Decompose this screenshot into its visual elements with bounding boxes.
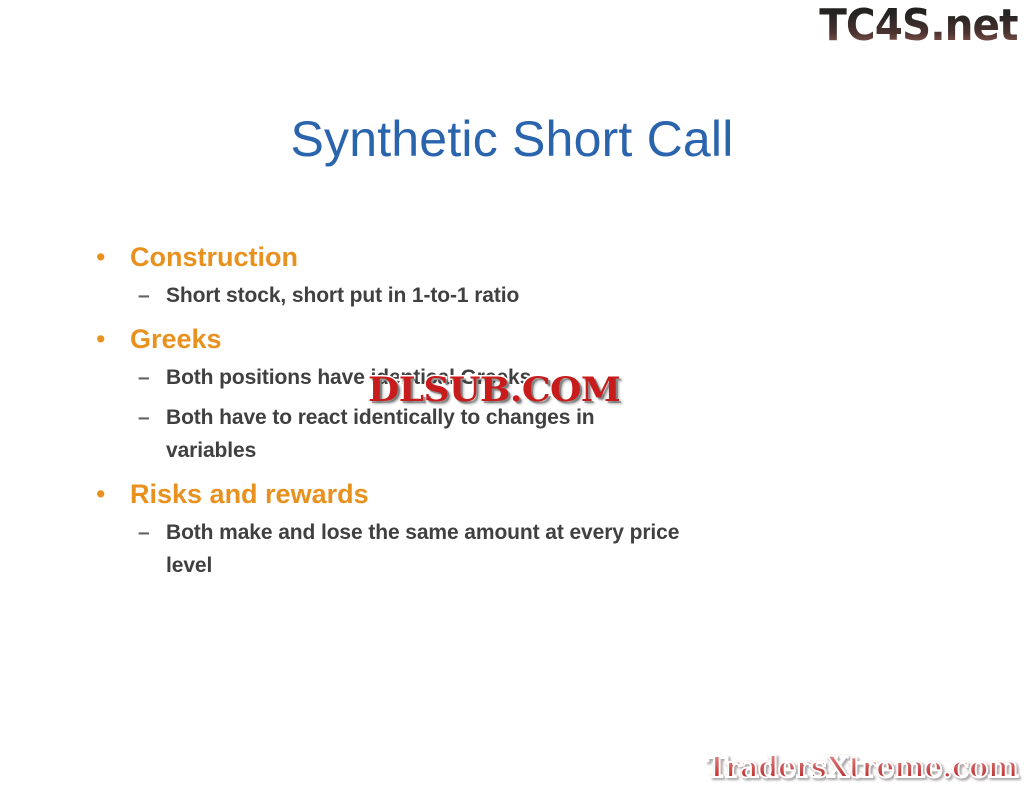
sub-bullet-text: Short stock, short put in 1-to-1 ratio (166, 279, 688, 312)
dash-bullet-icon: – (138, 516, 150, 549)
section-heading: Greeks (130, 319, 688, 359)
dlsub-watermark: DLSUB.COM (368, 370, 620, 410)
bullet-section-construction: • Construction (88, 237, 688, 277)
section-heading: Risks and rewards (130, 474, 688, 514)
tradersxtreme-footer-logo: TradersXtreme.com (706, 749, 1018, 785)
sub-bullet-item: – Both make and lose the same amount at … (88, 516, 688, 582)
spacer (88, 312, 688, 319)
sub-bullet-item: – Short stock, short put in 1-to-1 ratio (88, 279, 688, 312)
bullet-dot-icon: • (96, 237, 105, 277)
page-title: Synthetic Short Call (0, 108, 1024, 170)
dash-bullet-icon: – (138, 361, 150, 394)
section-heading: Construction (130, 237, 688, 277)
bullet-dot-icon: • (96, 474, 105, 514)
presentation-slide: TC4S.net Synthetic Short Call • Construc… (0, 0, 1024, 791)
sub-bullet-text: Both make and lose the same amount at ev… (166, 516, 688, 582)
bullet-section-risks-and-rewards: • Risks and rewards (88, 474, 688, 514)
spacer (88, 467, 688, 474)
dash-bullet-icon: – (138, 279, 150, 312)
bullet-section-greeks: • Greeks (88, 319, 688, 359)
tc4s-brand-logo: TC4S.net (820, 0, 1018, 54)
sub-bullet-text: Both have to react identically to change… (166, 401, 688, 467)
bullet-dot-icon: • (96, 319, 105, 359)
dash-bullet-icon: – (138, 401, 150, 434)
sub-bullet-item: – Both have to react identically to chan… (88, 401, 688, 467)
